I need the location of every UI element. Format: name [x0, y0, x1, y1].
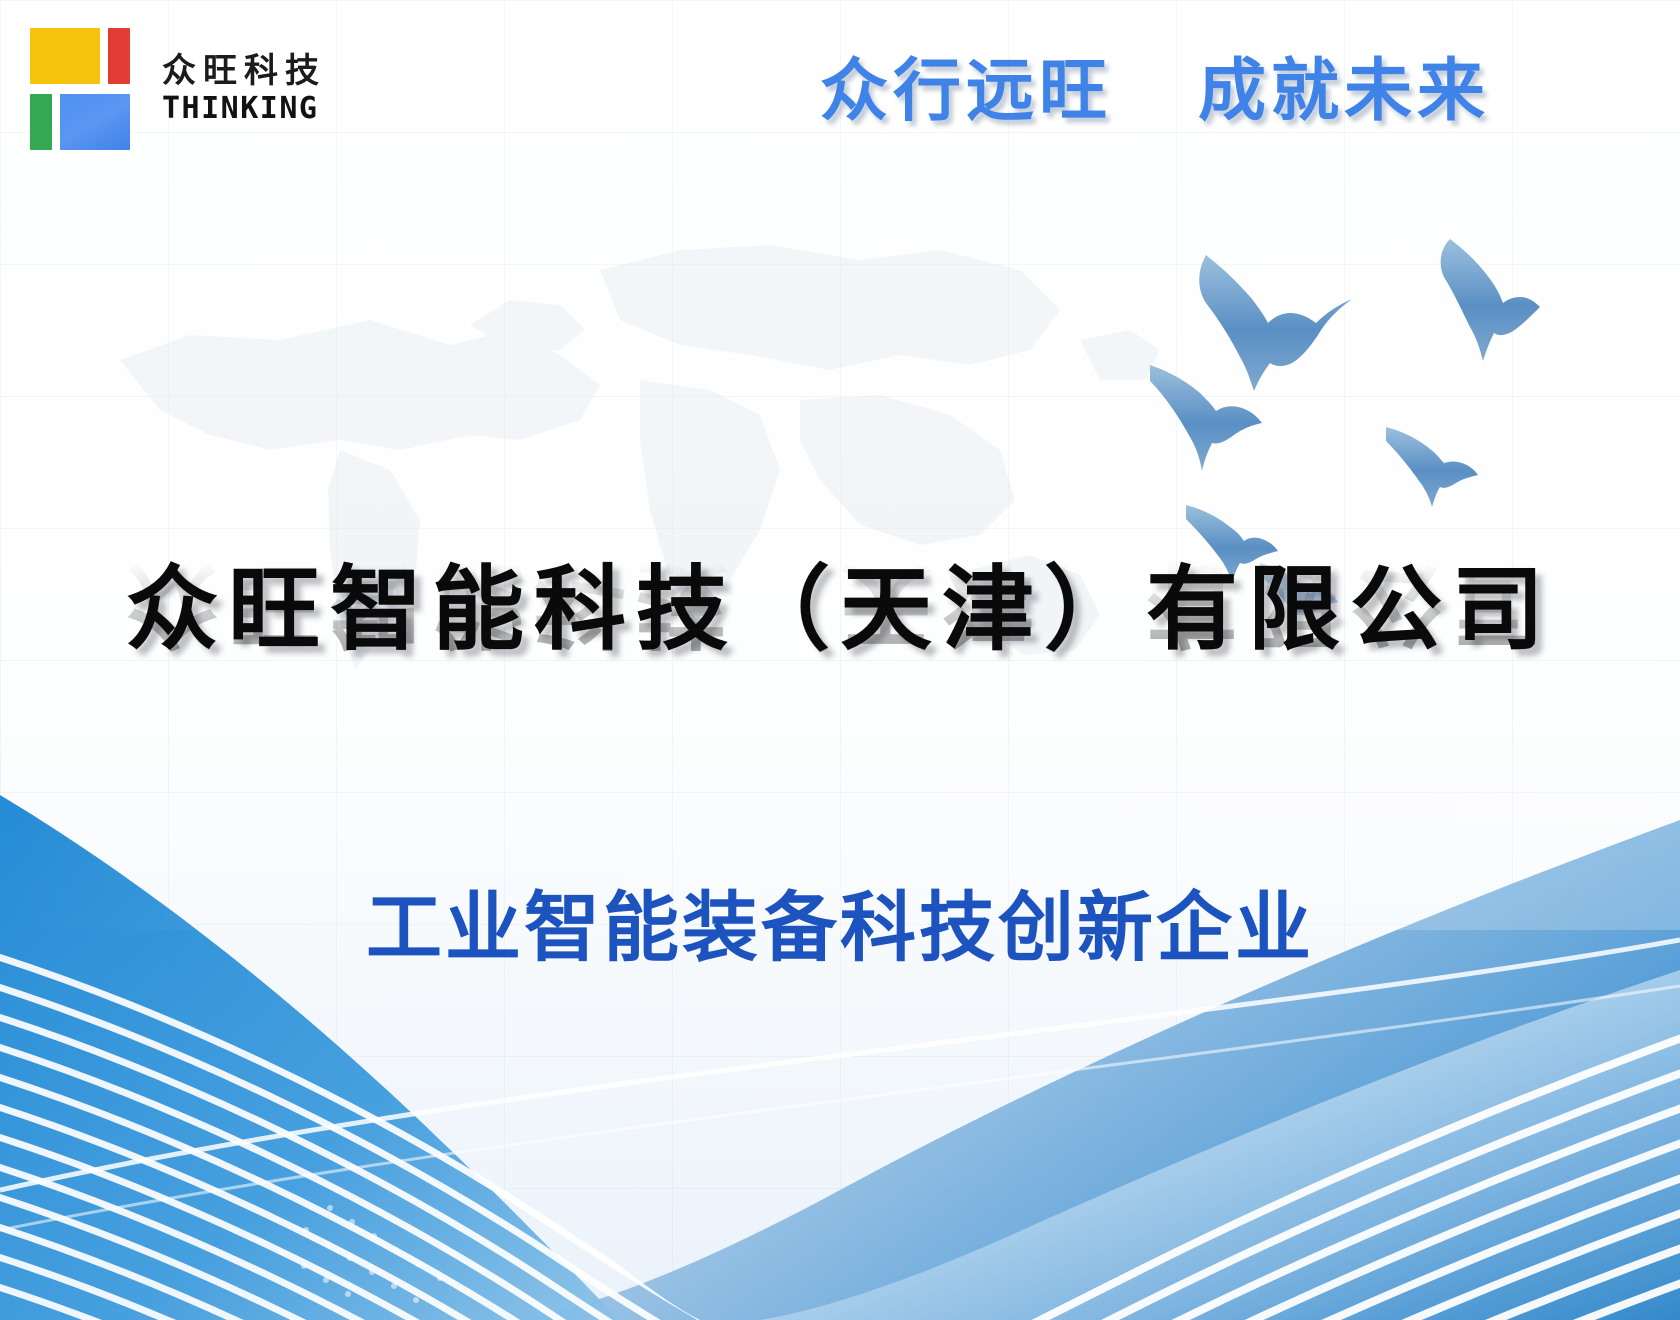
logo-square-blue	[60, 94, 130, 150]
page-subtitle: 工业智能装备科技创新企业	[0, 890, 1680, 966]
page-title: 众旺智能科技（天津）有限公司	[0, 560, 1680, 659]
logo-mark-icon	[30, 28, 140, 150]
presentation-slide: 众旺科技 THINKING 众行远旺 成就未来	[0, 0, 1680, 1320]
logo-english-name: THINKING	[162, 94, 326, 124]
blue-wave-ribbons-decoration	[0, 760, 1680, 1320]
logo-block[interactable]: 众旺科技 THINKING	[30, 28, 326, 150]
logo-square-yellow	[30, 28, 100, 84]
logo-text: 众旺科技 THINKING	[162, 54, 326, 124]
logo-bar-red	[108, 28, 130, 84]
logo-chinese-name: 众旺科技	[162, 54, 326, 88]
logo-bar-green	[30, 94, 52, 150]
title-block: 众旺智能科技（天津）有限公司 众旺智能科技（天津）有限公司	[0, 560, 1680, 753]
flying-birds-icon	[1140, 195, 1580, 615]
slide-header: 众旺科技 THINKING 众行远旺 成就未来	[0, 0, 1680, 190]
company-tagline: 众行远旺 成就未来	[820, 58, 1490, 126]
